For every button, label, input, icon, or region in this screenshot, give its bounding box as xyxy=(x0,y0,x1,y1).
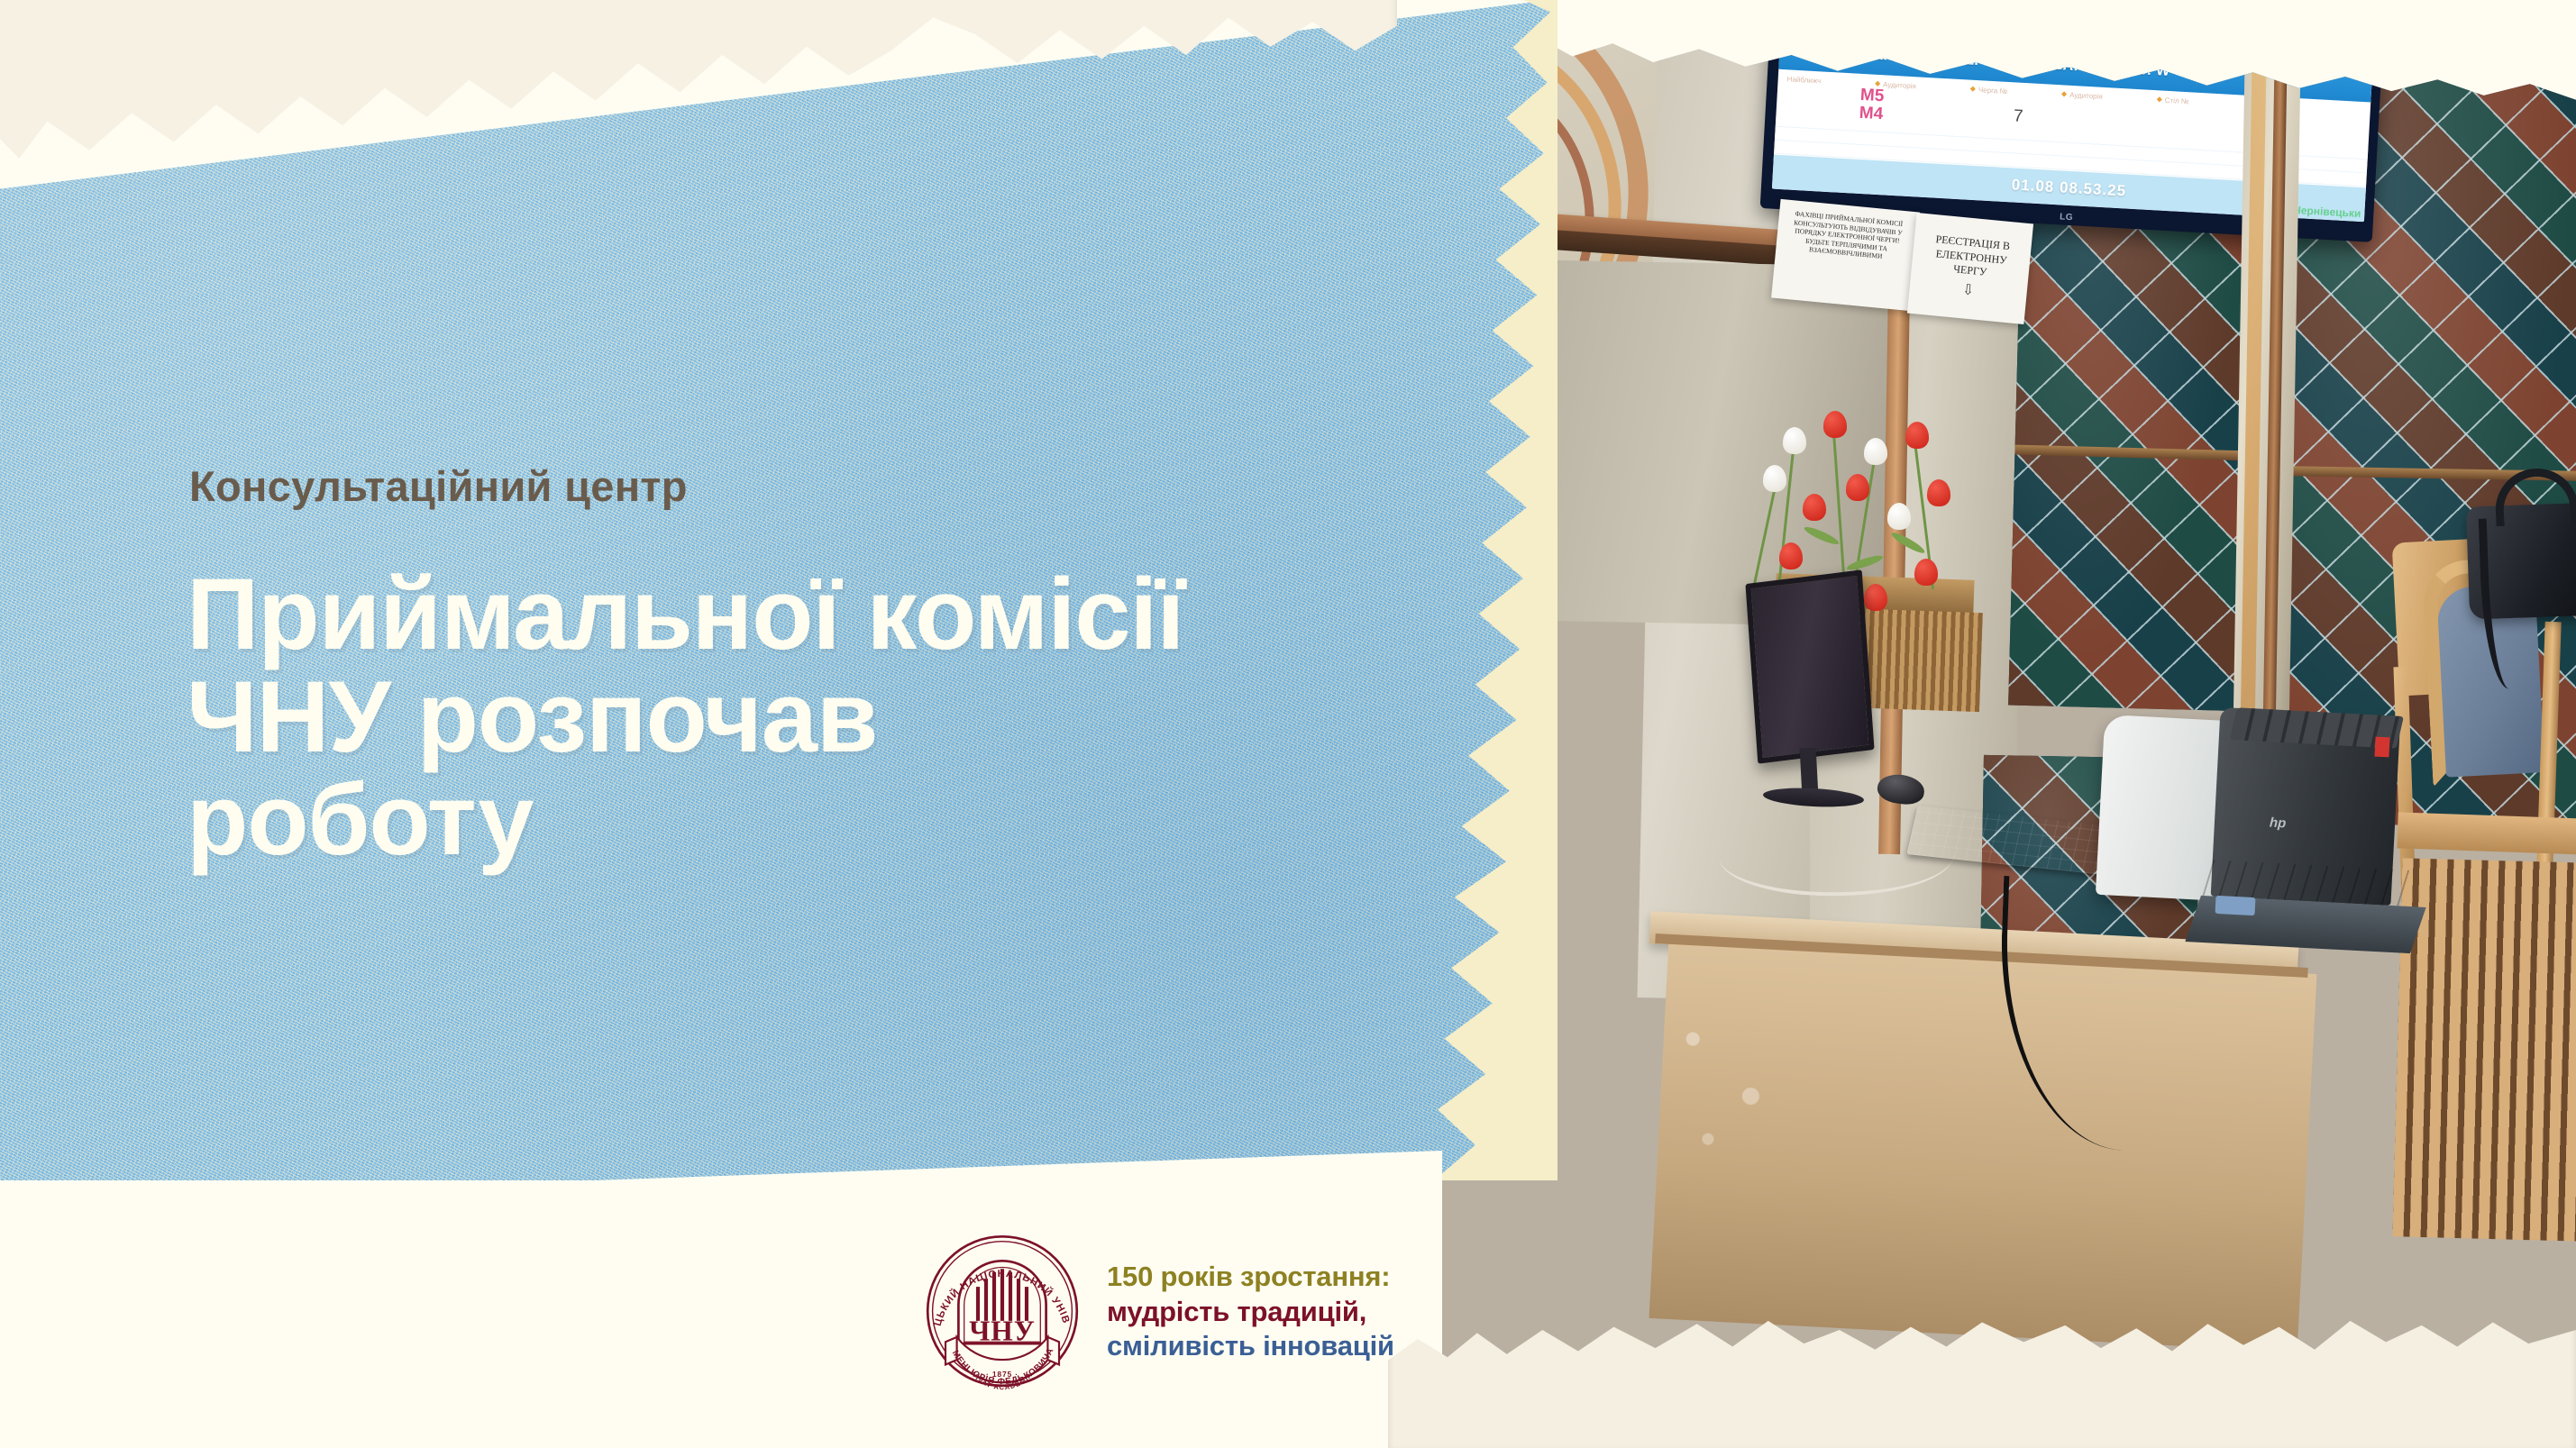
notice-registration-text: РЕЄСТРАЦІЯ В ЕЛЕКТРОННУ ЧЕРГУ xyxy=(1918,232,2024,283)
window-crossbar xyxy=(2014,445,2249,461)
bullet-icon: ◆ xyxy=(1970,85,1977,92)
photo-collage: осимо! Слава УКРАЇНІ! ГЕРОЯМ СЛАВА! Welc… xyxy=(1422,0,2576,1448)
tv-queue-code: M5 xyxy=(1859,87,1884,105)
headline-line-3: роботу xyxy=(187,769,1184,871)
notice-registration: РЕЄСТРАЦІЯ В ЕЛЕКТРОННУ ЧЕРГУ ⇩ xyxy=(1907,213,2033,324)
tv-col-label: Аудиторія xyxy=(2069,90,2103,100)
bullet-icon: ◆ xyxy=(2156,96,2162,103)
headline-line-2: ЧНУ розпочав xyxy=(187,666,1184,769)
leaf xyxy=(1846,553,1885,573)
tv-col-header: ◆Аудиторія xyxy=(2060,90,2103,123)
tulip-red xyxy=(1927,479,1950,506)
tulip-red xyxy=(1905,422,1929,449)
wooden-bench-top xyxy=(2397,812,2576,854)
desk-decorative-panel xyxy=(1652,992,1796,1179)
logo-arc-text: ЧЕРНІВЕЦЬКИЙ НАЦІОНАЛЬНИЙ УНІВЕРСИТЕТ xyxy=(921,1230,1072,1327)
photo-inner: осимо! Слава УКРАЇНІ! ГЕРОЯМ СЛАВА! Welc… xyxy=(1422,0,2576,1448)
down-arrow-icon: ⇩ xyxy=(1961,282,1975,302)
stem xyxy=(1751,487,1777,593)
eyebrow-label: Консультаційний центр xyxy=(189,461,688,511)
tagline-line-3: сміливість інновацій xyxy=(1107,1329,1394,1363)
tulip-white xyxy=(1864,438,1887,465)
tulip-white xyxy=(1783,427,1806,454)
bullet-icon: ◆ xyxy=(2061,90,2068,97)
tulip-red xyxy=(1823,411,1847,438)
tv-col-label: Аудиторія xyxy=(1883,80,1916,90)
tv-col-label: Стіл № xyxy=(2165,96,2189,105)
computer-monitor xyxy=(1745,569,1874,763)
leaf xyxy=(1890,530,1927,556)
hp-logo-icon: hp xyxy=(2270,815,2287,832)
tv-col-header: ◆Стіл № xyxy=(2155,96,2189,128)
tulip-red xyxy=(1914,559,1938,586)
chnu-logo-icon: ЧНУ ЧЕРНІВЕЦЬКИЙ НАЦІОНАЛЬНИЙ УНІВЕРСИТЕ… xyxy=(921,1230,1083,1394)
tulip-white xyxy=(1763,465,1786,492)
tulip-red xyxy=(1803,494,1826,521)
tv-col-label: Найближч xyxy=(1786,75,1821,85)
tulip-red xyxy=(1779,542,1803,569)
tulip-red xyxy=(1846,474,1869,501)
svg-text:ЧНУ: ЧНУ xyxy=(969,1316,1035,1347)
leaf xyxy=(1803,524,1841,547)
anniversary-tagline: 150 років зростання: мудрість традицій, … xyxy=(1107,1260,1394,1363)
tv-col-header: ◆Черга № xyxy=(1969,85,2007,118)
page-title: Приймальної комісії ЧНУ розпочав роботу xyxy=(187,563,1184,872)
tulip-red xyxy=(1864,584,1887,611)
poster-canvas: осимо! Слава УКРАЇНІ! ГЕРОЯМ СЛАВА! Welc… xyxy=(0,0,2576,1448)
printer-paper-stop xyxy=(2215,896,2256,915)
notice-queue-rules: ФАХІВЦІ ПРИЙМАЛЬНОЇ КОМІСІЇ КОНСУЛЬТУЮТЬ… xyxy=(1771,199,1920,311)
tagline-line-2: мудрість традицій, xyxy=(1107,1295,1394,1329)
tv-brand-logo: LG xyxy=(2060,212,2073,223)
tagline-line-1: 150 років зростання: xyxy=(1107,1260,1394,1294)
tv-col-label: Черга № xyxy=(1978,86,2008,96)
svg-text:ЧЕРНІВЕЦЬКИЙ НАЦІОНАЛЬНИЙ УНІВ: ЧЕРНІВЕЦЬКИЙ НАЦІОНАЛЬНИЙ УНІВЕРСИТЕТ xyxy=(921,1230,1072,1327)
stem xyxy=(1832,433,1846,586)
logo-year: · 1875 · xyxy=(986,1370,1019,1379)
printer-status-light xyxy=(2374,737,2389,758)
branding-block: ЧНУ ЧЕРНІВЕЦЬКИЙ НАЦІОНАЛЬНИЙ УНІВЕРСИТЕ… xyxy=(921,1230,1394,1394)
tulip-white xyxy=(1887,503,1911,530)
tv-queue-number: 7 xyxy=(2013,107,2032,126)
tv-col-header: Найближч xyxy=(1786,75,1821,108)
headline-line-1: Приймальної комісії xyxy=(187,563,1184,666)
